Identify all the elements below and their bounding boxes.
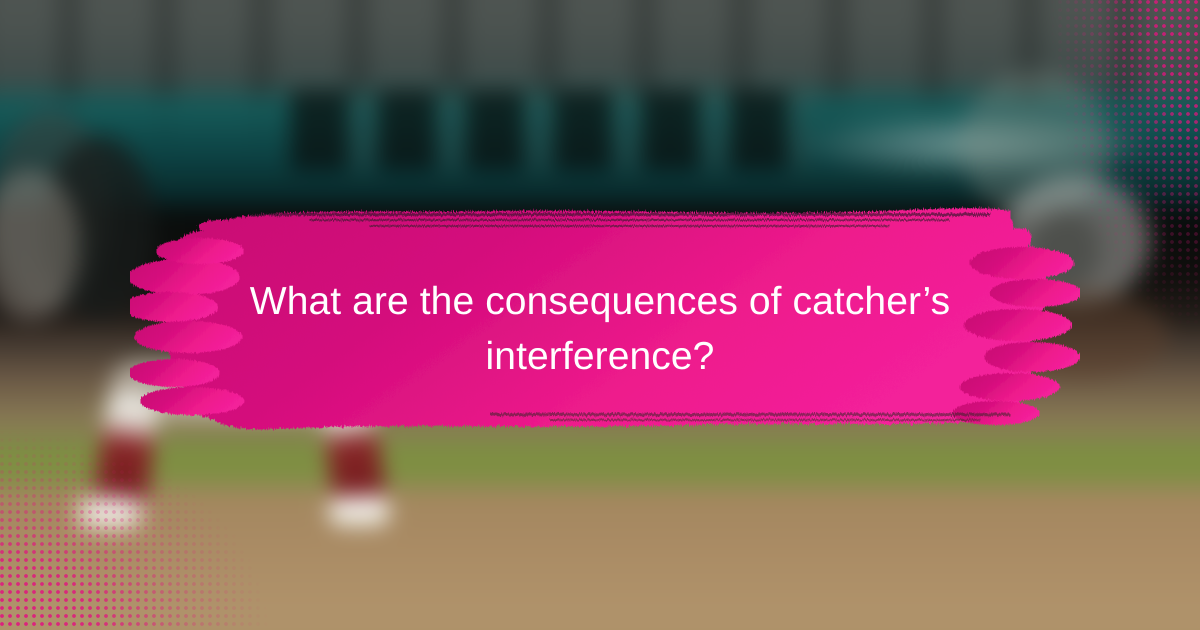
headline-line-2: interference? [0, 329, 1200, 384]
social-share-card: What are the consequences of catcher’s i… [0, 0, 1200, 630]
infield-dirt [0, 488, 1200, 628]
headline-line-1: What are the consequences of catcher’s [0, 274, 1200, 329]
batter-shoe-left [78, 498, 140, 528]
batter-shoe-right [328, 496, 390, 526]
dugout-windows [290, 90, 810, 170]
card-headline: What are the consequences of catcher’s i… [0, 274, 1200, 384]
